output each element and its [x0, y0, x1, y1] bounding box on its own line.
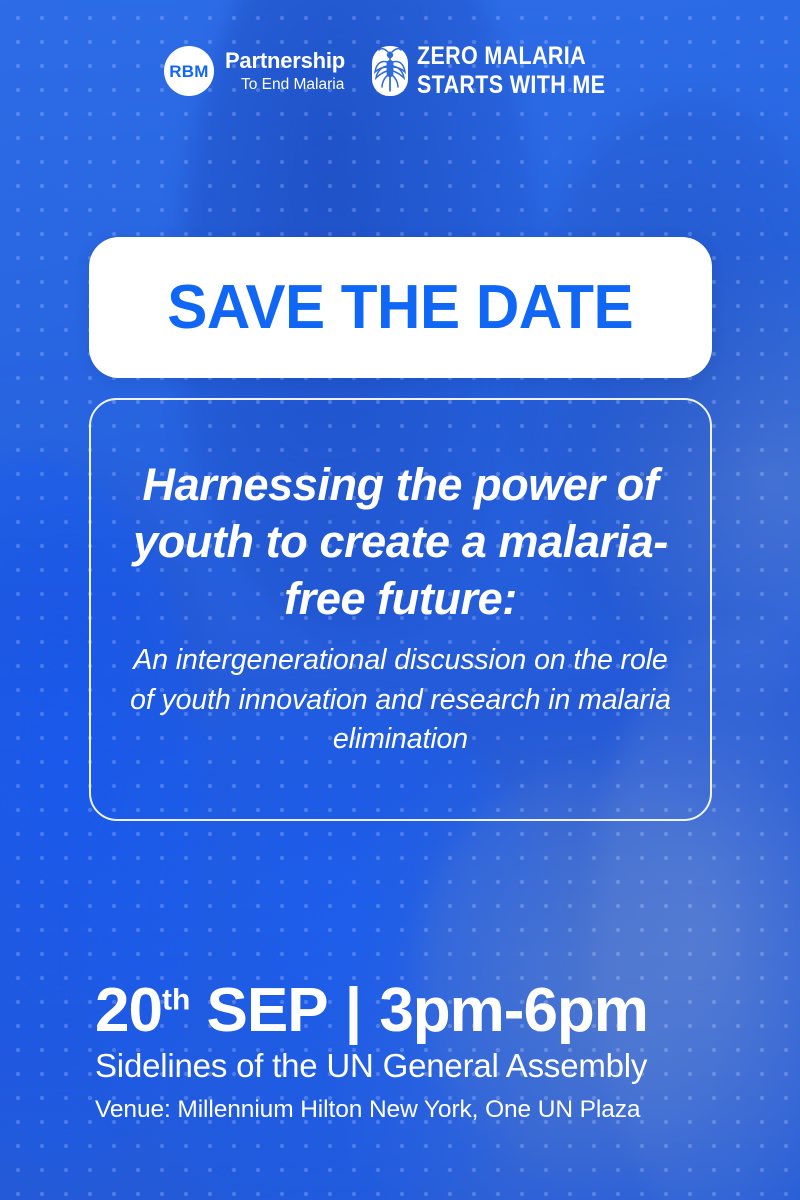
rbm-monogram: RBM: [169, 63, 208, 80]
event-day: 20: [95, 976, 162, 1045]
zero-malaria-line2: STARTS WITH ME: [417, 73, 605, 98]
rbm-logo-text: Partnership To End Malaria: [211, 50, 345, 93]
rbm-logo-line2: To End Malaria: [211, 77, 345, 93]
event-title-card: Harnessing the power of youth to create …: [89, 398, 712, 821]
save-the-date-label: SAVE THE DATE: [168, 277, 634, 339]
event-details: 20th SEP | 3pm-6pm Sidelines of the UN G…: [95, 980, 730, 1124]
zero-malaria-logo-text: ZERO MALARIA STARTS WITH ME: [417, 44, 636, 98]
save-the-date-card: SAVE THE DATE: [89, 237, 712, 378]
logo-bar: RBM Partnership To End Malaria: [0, 44, 800, 98]
date-time-separator: |: [343, 976, 363, 1045]
event-month: SEP: [207, 976, 327, 1045]
event-subheadline: An intergenerational discussion on the r…: [121, 641, 680, 759]
rbm-circle-logo-icon: RBM: [164, 46, 214, 96]
rbm-partnership-logo: RBM Partnership To End Malaria: [164, 46, 345, 96]
zero-malaria-o-with-mosquito: O: [461, 44, 478, 69]
event-context: Sidelines of the UN General Assembly: [95, 1048, 730, 1085]
rbm-logo-line1: Partnership: [211, 50, 345, 72]
event-headline: Harnessing the power of youth to create …: [121, 456, 680, 627]
event-date-time: 20th SEP | 3pm-6pm: [95, 980, 730, 1042]
zero-malaria-line1: ZERO MALARIA: [417, 44, 605, 69]
save-the-date-poster: RBM Partnership To End Malaria: [0, 0, 800, 1200]
mosquito-icon: [371, 45, 409, 97]
poster-content: RBM Partnership To End Malaria: [0, 0, 800, 1200]
zero-malaria-line1-after: MALARIA: [478, 42, 586, 70]
zero-malaria-logo: ZERO MALARIA STARTS WITH ME: [371, 44, 636, 98]
event-venue: Venue: Millennium Hilton New York, One U…: [95, 1097, 730, 1124]
event-time: 3pm-6pm: [379, 976, 648, 1045]
event-day-suffix: th: [162, 983, 190, 1016]
zero-malaria-line1-before: ZER: [417, 42, 461, 70]
